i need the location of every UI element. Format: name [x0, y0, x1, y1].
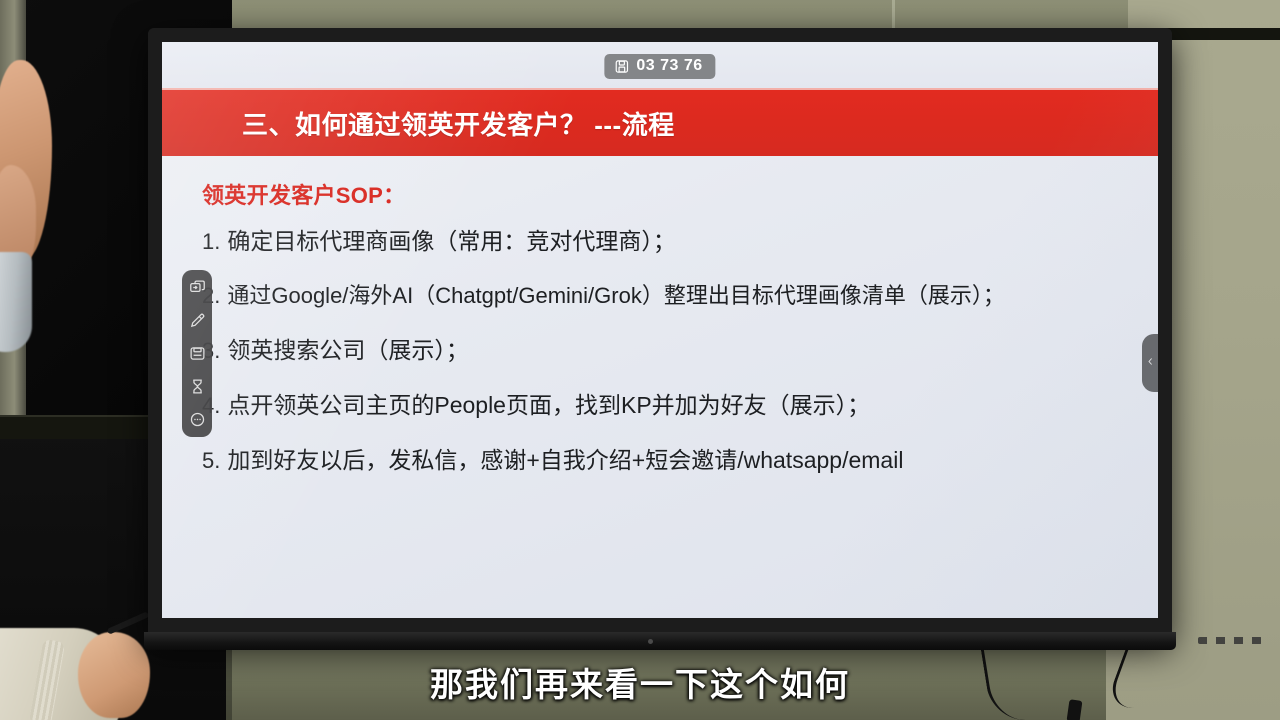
wall-top [228, 0, 1128, 30]
display-indicator-led [648, 639, 653, 644]
display-port-row [1198, 637, 1262, 644]
list-item-text: 通过Google/海外AI（Chatgpt/Gemini/Grok）整理出目标代… [227, 283, 1004, 309]
list-item: 2. 通过Google/海外AI（Chatgpt/Gemini/Grok）整理出… [202, 283, 1132, 309]
interactive-display-panel[interactable]: 03 73 76 三、如何通过领英开发客户？ ---流程 领英开发客户SOP： … [148, 28, 1172, 640]
hourglass-icon[interactable] [188, 377, 207, 396]
video-subtitle: 那我们再来看一下这个如何 [0, 658, 1280, 706]
timer-value: 03 73 76 [636, 58, 702, 74]
edge-pull-tab[interactable] [1142, 334, 1158, 392]
sop-heading: 领英开发客户SOP： [202, 178, 1132, 210]
cup-object [0, 252, 32, 352]
list-item-text: 确定目标代理商画像（常用：竞对代理商）； [227, 228, 676, 255]
slide-title: 三、如何通过领英开发客户？ ---流程 [242, 105, 675, 142]
slide-surface[interactable]: 03 73 76 三、如何通过领英开发客户？ ---流程 领英开发客户SOP： … [162, 42, 1158, 618]
slide-top-strip: 03 73 76 [162, 42, 1158, 88]
list-item-text: 领英搜索公司（展示）； [227, 337, 469, 364]
wall-seam [892, 0, 895, 30]
screen-windows-icon[interactable] [188, 278, 207, 297]
list-item: 4. 点开领英公司主页的People页面，找到KP并加为好友（展示）； [202, 392, 1132, 419]
blind-bar [0, 415, 150, 439]
save-screenshot-icon [614, 59, 629, 74]
sop-list: 1. 确定目标代理商画像（常用：竞对代理商）； 2. 通过Google/海外AI… [202, 228, 1132, 474]
scene-root: 03 73 76 三、如何通过领英开发客户？ ---流程 领英开发客户SOP： … [0, 0, 1280, 720]
chevron-left-icon [1146, 355, 1155, 371]
list-item: 3. 领英搜索公司（展示）； [202, 337, 1132, 364]
list-item: 1. 确定目标代理商画像（常用：竞对代理商）； [202, 228, 1132, 255]
pen-icon[interactable] [188, 311, 207, 330]
list-item-text: 点开领英公司主页的People页面，找到KP并加为好友（展示）； [227, 392, 870, 419]
list-item-number: 1. [202, 229, 220, 255]
more-icon[interactable] [188, 410, 207, 429]
list-item-number: 5. [202, 448, 220, 474]
slide-title-band: 三、如何通过领英开发客户？ ---流程 [162, 88, 1158, 156]
slide-body: 领英开发客户SOP： 1. 确定目标代理商画像（常用：竞对代理商）； 2. 通过… [162, 156, 1158, 474]
list-item-text: 加到好友以后，发私信，感谢+自我介绍+短会邀请/whatsapp/email [227, 447, 903, 474]
save-icon[interactable] [188, 344, 207, 363]
display-bottom-frame [144, 632, 1176, 650]
floating-tool-rail[interactable] [182, 270, 212, 437]
timer-badge[interactable]: 03 73 76 [604, 54, 715, 79]
list-item: 5. 加到好友以后，发私信，感谢+自我介绍+短会邀请/whatsapp/emai… [202, 447, 1132, 474]
